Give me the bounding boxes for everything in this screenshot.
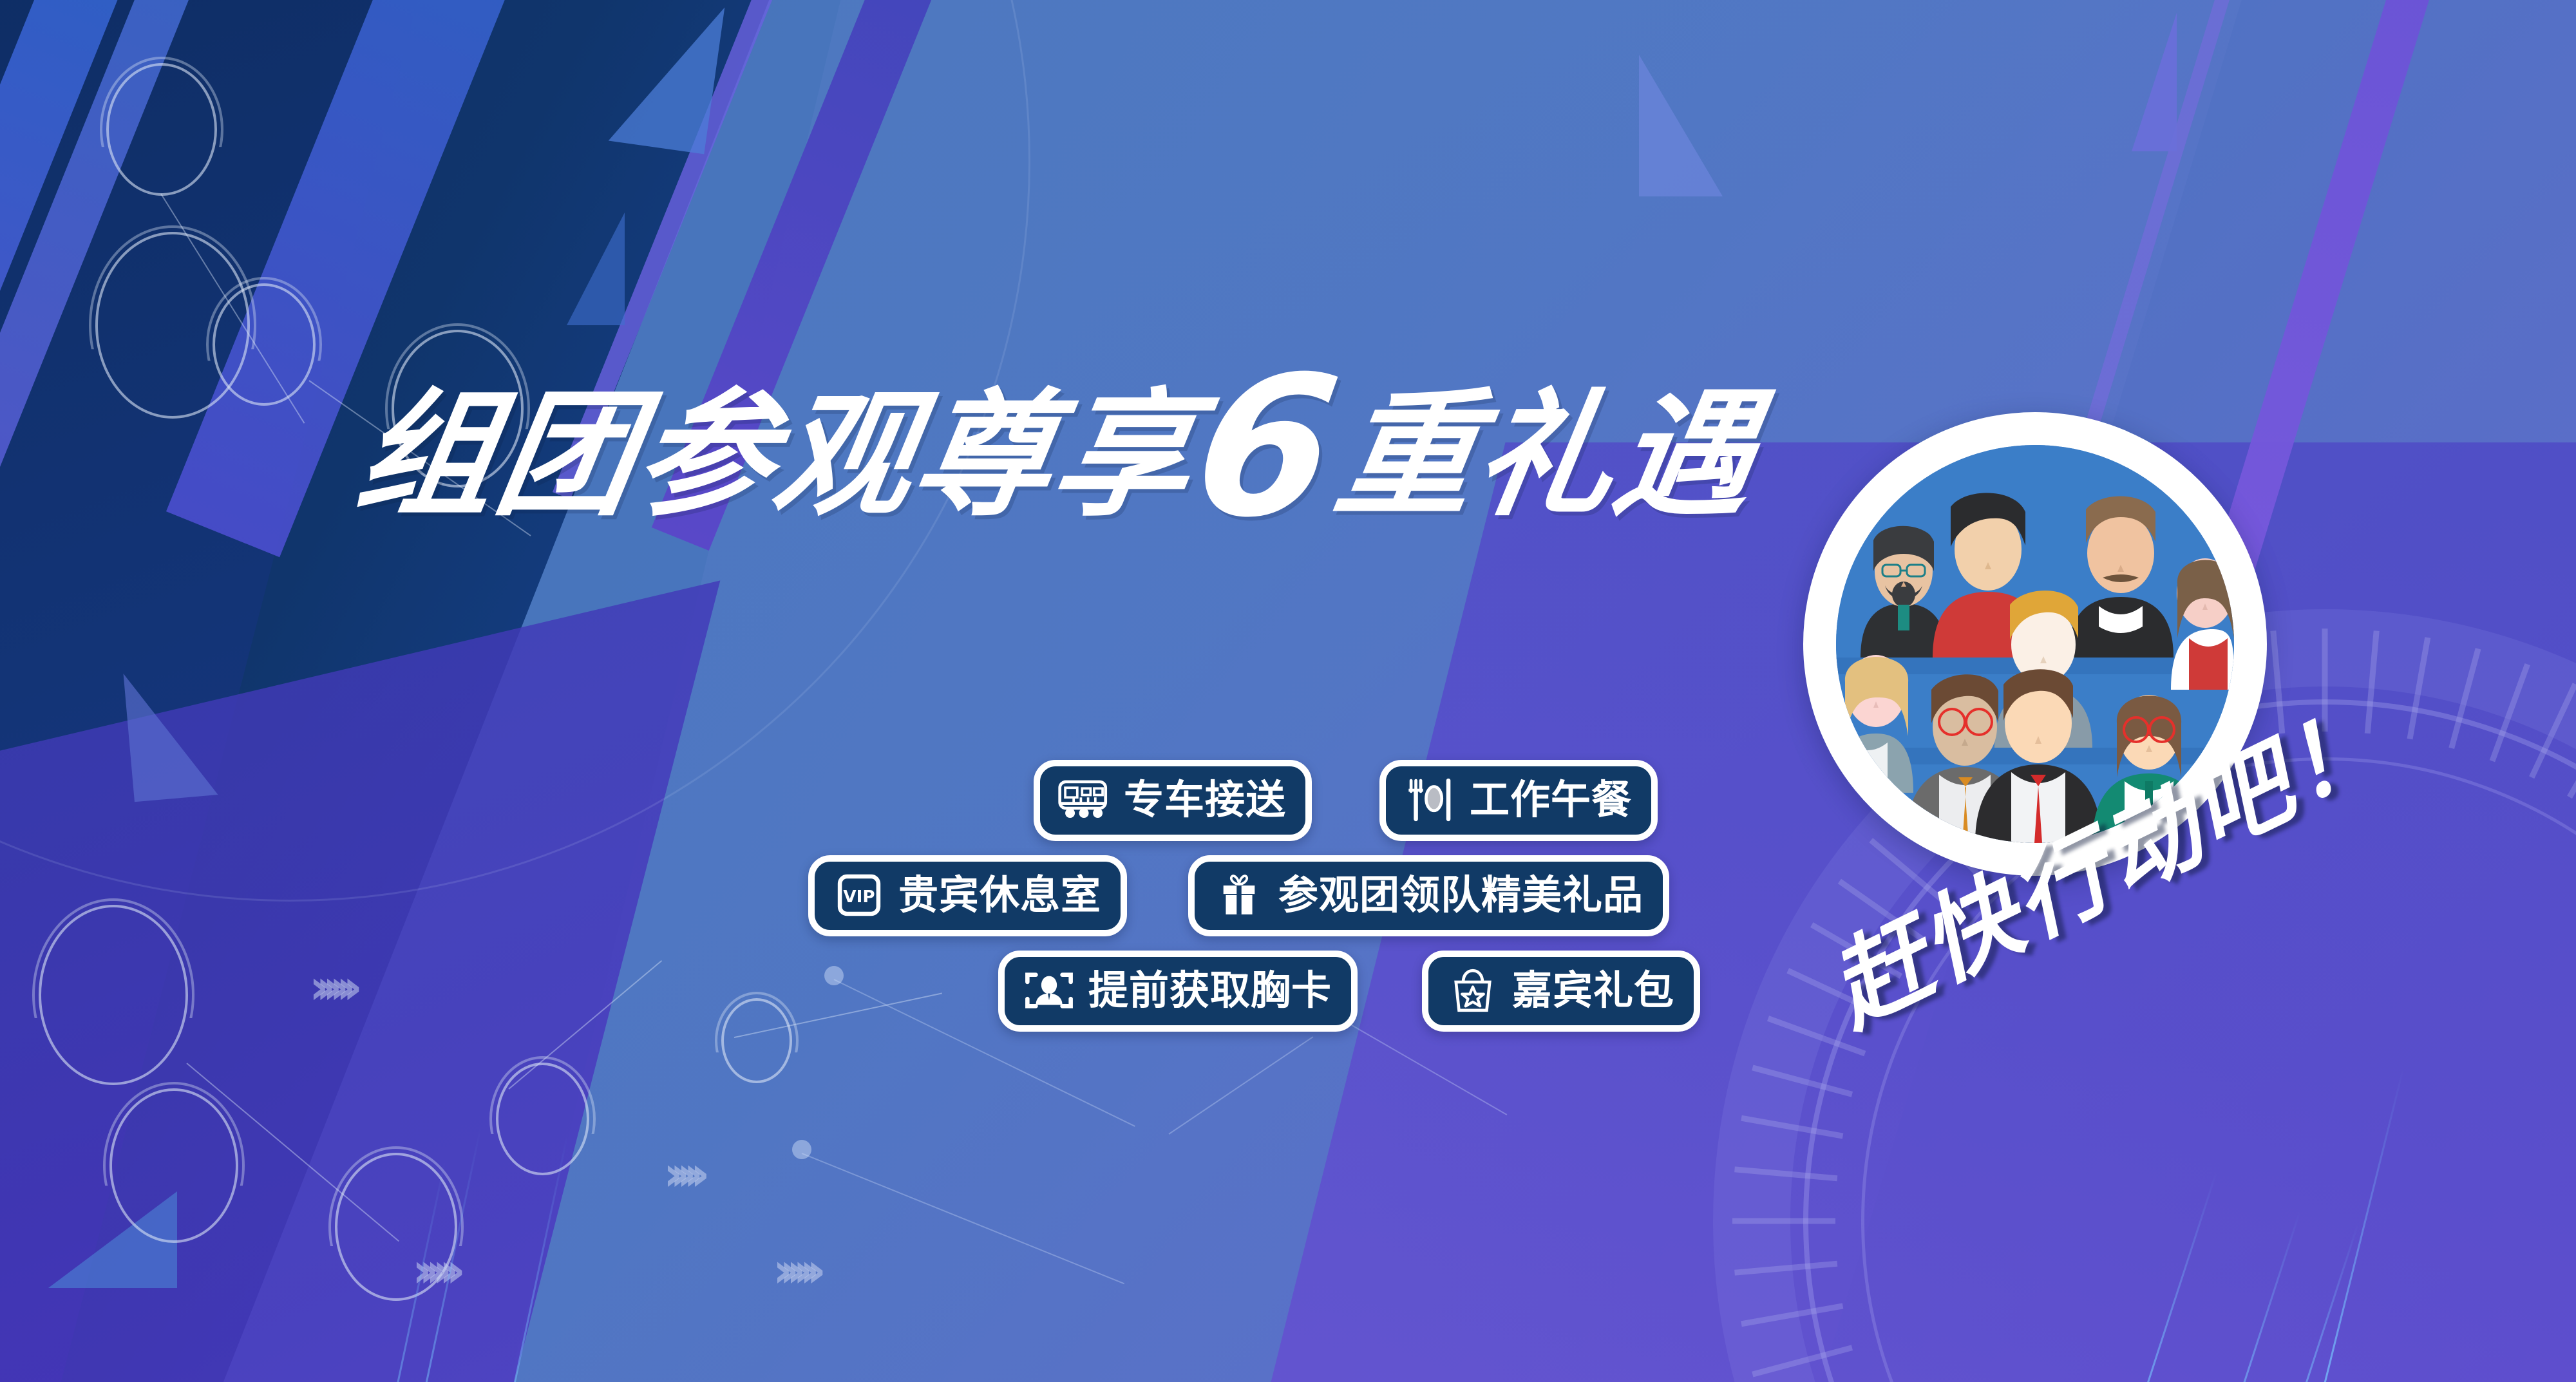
node-circle [109, 1088, 238, 1243]
chevron-arrows: ›››››› [309, 960, 350, 1015]
vip-card-icon: VIP [831, 872, 887, 918]
benefits-list: 专车接送 工作午餐 VIP 贵宾休息室 [805, 760, 1835, 1046]
benefit-badge-vip-lounge[interactable]: VIP 贵宾休息室 [808, 855, 1127, 936]
svg-text:VIP: VIP [843, 887, 875, 907]
node-circle [496, 1063, 589, 1175]
bus-icon [1057, 777, 1112, 823]
benefit-row-3: 提前获取胸卡 嘉宾礼包 [805, 951, 1835, 1032]
benefit-badge-leader-gift[interactable]: 参观团领队精美礼品 [1188, 855, 1669, 936]
node-circle [95, 232, 250, 419]
benefit-label: 工作午餐 [1470, 780, 1632, 820]
cutlery-icon [1403, 777, 1458, 823]
chevron-arrows: ››››› [663, 1146, 697, 1202]
benefit-badge-early-badge[interactable]: 提前获取胸卡 [998, 951, 1358, 1032]
page-title: 组团参观尊享6重礼遇 [345, 351, 1772, 544]
node-circle [106, 63, 217, 196]
gift-bag-icon [1445, 967, 1501, 1014]
id-badge-icon [1021, 967, 1077, 1014]
benefit-badge-bus[interactable]: 专车接送 [1034, 760, 1312, 841]
benefit-badge-guest-pack[interactable]: 嘉宾礼包 [1422, 951, 1700, 1032]
benefit-label: 嘉宾礼包 [1512, 970, 1674, 1010]
node-circle [721, 998, 792, 1083]
headline-suffix: 重礼遇 [1326, 375, 1768, 535]
benefit-row-1: 专车接送 工作午餐 [805, 760, 1835, 841]
gift-box-icon [1211, 872, 1267, 918]
node-circle [39, 905, 188, 1085]
benefit-row-2: VIP 贵宾休息室 参观团领队精美礼品 [805, 855, 1835, 936]
triangle-shard [1639, 55, 1723, 196]
benefit-label: 提前获取胸卡 [1088, 970, 1332, 1010]
headline-prefix: 组团参观尊享 [347, 375, 1207, 535]
benefit-label: 贵宾休息室 [898, 875, 1101, 915]
promo-banner: ›››››› ›››››› ››››› ›››››› 组团参观尊享6重礼遇 [0, 0, 2576, 1382]
benefit-label: 参观团领队精美礼品 [1278, 875, 1643, 915]
chevron-arrows: ›››››› [773, 1243, 813, 1298]
benefit-badge-lunch[interactable]: 工作午餐 [1379, 760, 1658, 841]
triangle-shard [2132, 13, 2177, 151]
benefit-label: 专车接送 [1124, 780, 1286, 820]
